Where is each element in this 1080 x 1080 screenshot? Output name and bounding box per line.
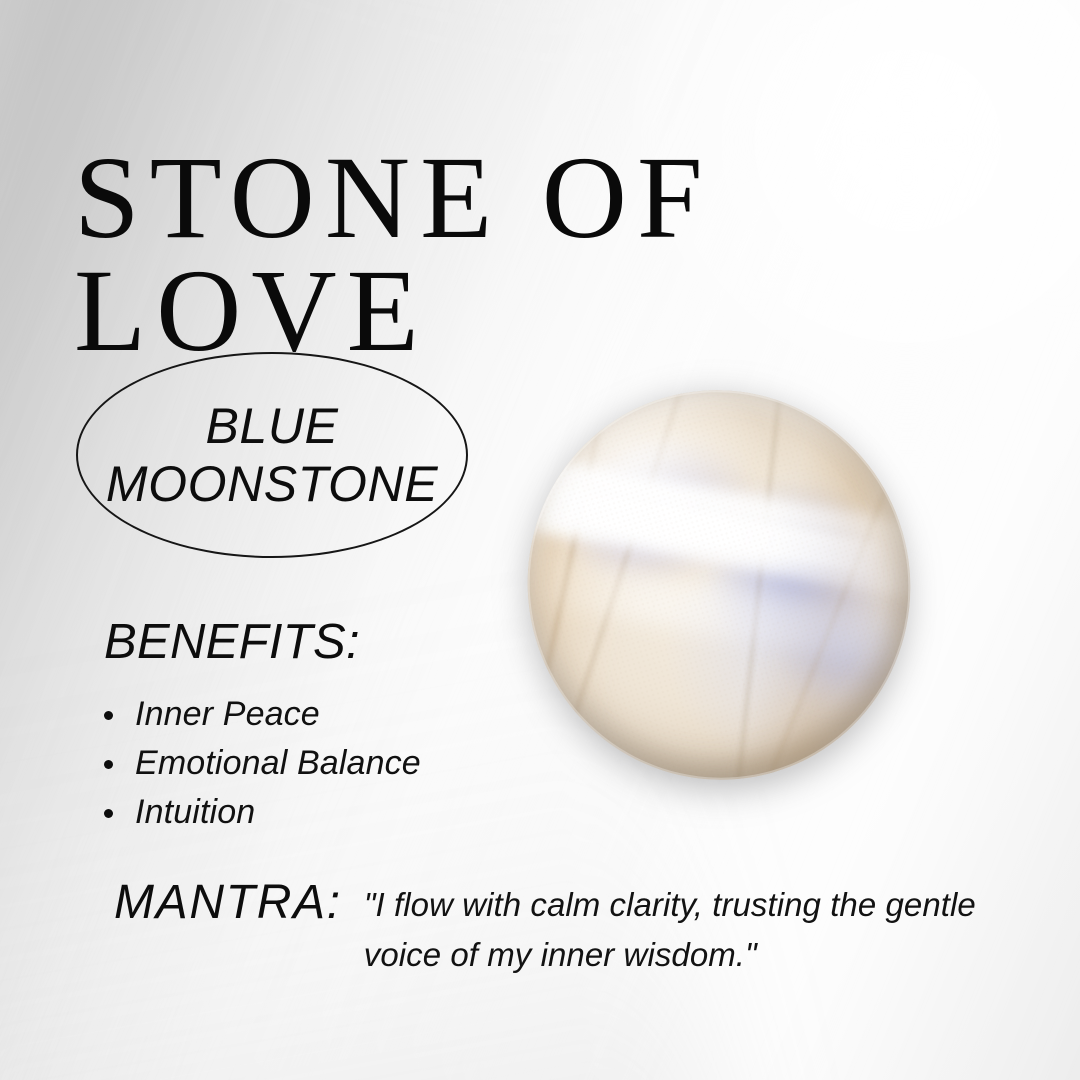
benefit-label: Emotional Balance bbox=[135, 744, 421, 782]
stone-name-label: BLUE MOONSTONE bbox=[76, 397, 468, 513]
list-item: Emotional Balance bbox=[104, 741, 534, 786]
page-title: STONE OF LOVE bbox=[74, 141, 794, 367]
benefit-label: Inner Peace bbox=[135, 695, 320, 733]
bullet-icon bbox=[104, 760, 113, 769]
bullet-icon bbox=[104, 711, 113, 720]
mantra-label: MANTRA: bbox=[114, 876, 342, 930]
benefits-heading: BENEFITS: bbox=[104, 614, 534, 670]
moonstone-rim-shading bbox=[482, 345, 957, 825]
mantra-section: MANTRA: "I flow with calm clarity, trust… bbox=[114, 876, 1014, 980]
stone-name-badge: BLUE MOONSTONE bbox=[76, 352, 468, 558]
mantra-quote: "I flow with calm clarity, trusting the … bbox=[364, 880, 1014, 980]
moonstone-body bbox=[482, 345, 957, 825]
list-item: Inner Peace bbox=[104, 692, 534, 737]
benefits-section: BENEFITS: Inner Peace Emotional Balance … bbox=[104, 614, 534, 839]
poster-canvas: STONE OF LOVE BLUE MOONSTONE BENEFITS: I… bbox=[0, 0, 1080, 1080]
list-item: Intuition bbox=[104, 790, 534, 835]
bullet-icon bbox=[104, 809, 113, 818]
benefits-list: Inner Peace Emotional Balance Intuition bbox=[104, 692, 534, 835]
benefit-label: Intuition bbox=[135, 793, 255, 831]
moonstone-image bbox=[520, 380, 920, 790]
